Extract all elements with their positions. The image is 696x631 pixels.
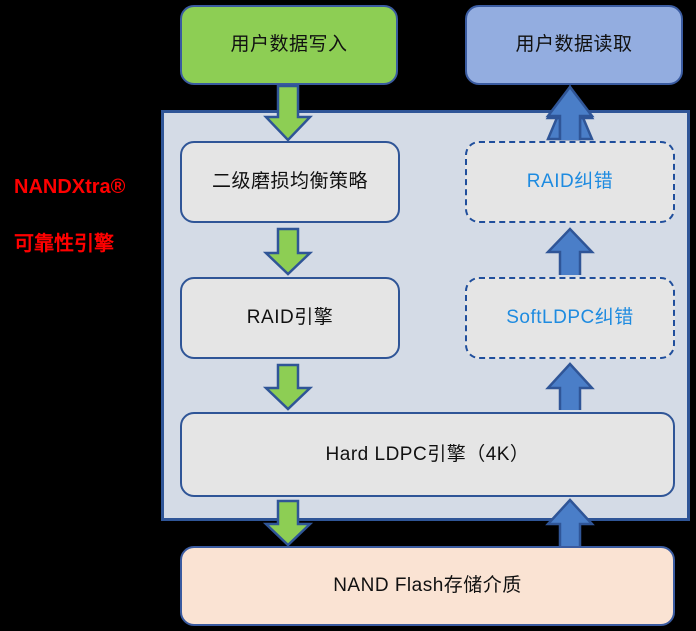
node-user-data-read[interactable]: 用户数据读取 xyxy=(465,5,683,85)
node-raid-engine[interactable]: RAID引擎 xyxy=(180,277,400,359)
node-soft-ldpc-correction[interactable]: SoftLDPC纠错 xyxy=(465,277,675,359)
node-nand-flash-media[interactable]: NAND Flash存储介质 xyxy=(180,546,675,626)
engine-caption: NANDXtra® 可靠性引擎 xyxy=(14,145,164,287)
node-hard-ldpc-engine[interactable]: Hard LDPC引擎（4K） xyxy=(180,412,675,497)
engine-caption-line1: NANDXtra® xyxy=(14,173,164,201)
diagram-canvas: NANDXtra® 可靠性引擎 用户数据写入 用户数据读取 二级磨损均衡策略 R… xyxy=(0,0,696,631)
node-raid-correction[interactable]: RAID纠错 xyxy=(465,141,675,223)
engine-caption-line2: 可靠性引擎 xyxy=(14,230,164,258)
node-wear-leveling[interactable]: 二级磨损均衡策略 xyxy=(180,141,400,223)
node-user-data-write[interactable]: 用户数据写入 xyxy=(180,5,398,85)
